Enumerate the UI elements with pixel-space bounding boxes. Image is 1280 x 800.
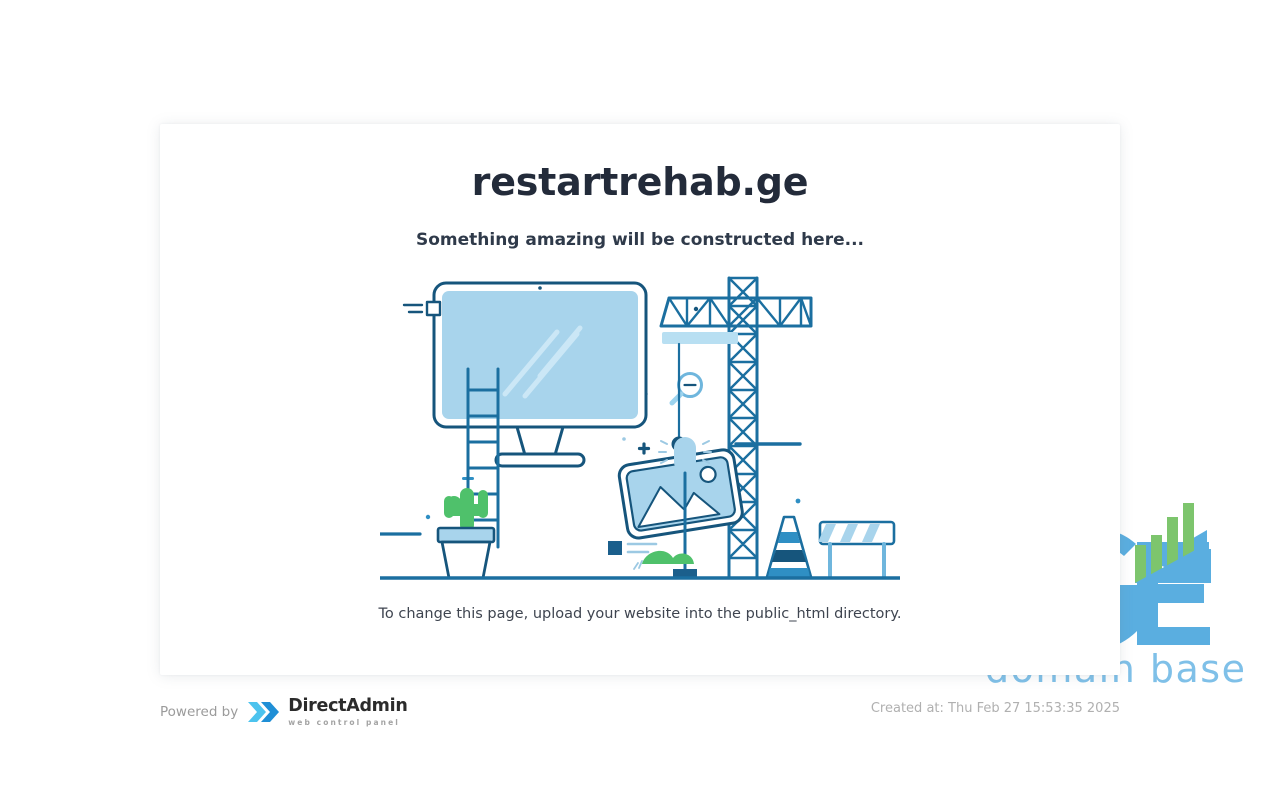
directadmin-tagline: web control panel [288, 719, 407, 727]
traffic-cone [767, 517, 811, 577]
cactus-pot [438, 473, 494, 578]
ui-marks-bottom [608, 541, 656, 555]
page-root: domain base restartrehab.ge Something am… [0, 0, 1280, 800]
illustration-container [160, 264, 1120, 594]
content-card: restartrehab.ge Something amazing will b… [160, 124, 1120, 675]
page-title: restartrehab.ge [160, 160, 1120, 204]
barrier [818, 522, 894, 577]
page-subtitle: Something amazing will be constructed he… [160, 230, 1120, 250]
powered-by-label: Powered by [160, 704, 238, 720]
directadmin-logo[interactable]: DirectAdmin web control panel [247, 698, 407, 726]
created-at-text: Created at: Thu Feb 27 15:53:35 2025 [871, 701, 1120, 716]
monitor [434, 283, 646, 466]
page-footer: Powered by DirectAdmin web control panel… [160, 688, 1120, 732]
directadmin-chevron-icon [247, 699, 281, 725]
magnifier-icon [672, 374, 702, 404]
directadmin-name: DirectAdmin [288, 698, 407, 716]
directadmin-wordmark: DirectAdmin web control panel [288, 698, 407, 726]
ui-marks-left [404, 302, 440, 315]
powered-by-block: Powered by DirectAdmin web control panel [160, 698, 407, 726]
under-construction-illustration [380, 264, 900, 594]
upload-hint: To change this page, upload your website… [160, 606, 1120, 622]
